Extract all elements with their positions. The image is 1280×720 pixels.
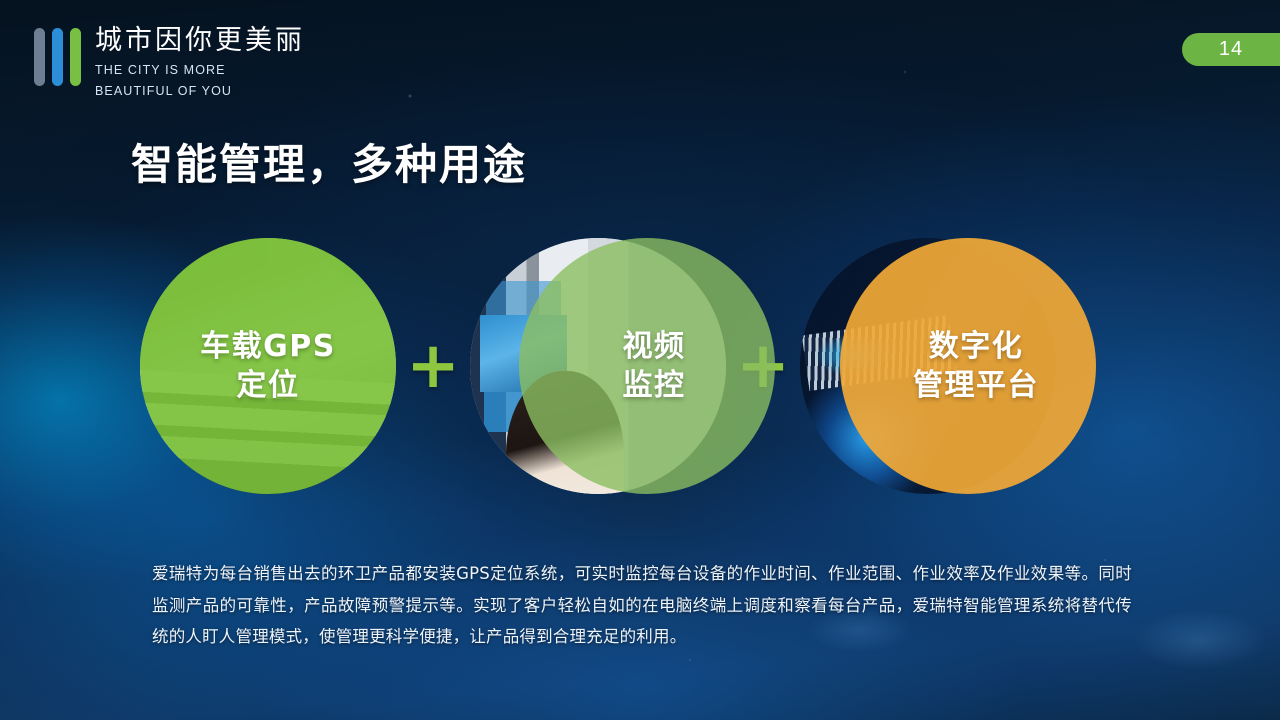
logo-english-line-1: THE CITY IS MORE [95,61,305,79]
concept-circle-gps: 车载GPS 定位 [140,238,396,494]
body-paragraph: 爱瑞特为每台销售出去的环卫产品都安装GPS定位系统，可实时监控每台设备的作业时间… [152,558,1132,653]
logo-english-line-2: BEAUTIFUL OF YOU [95,82,305,100]
concept-circle-platform: 数字化 管理平台 [800,238,1056,494]
concept-circle-platform-label-line-2: 管理平台 [913,366,1039,405]
concept-circle-video-label: 视频 监控 [526,238,782,494]
page-number-label: 14 [1219,38,1243,61]
slide-canvas: 城市因你更美丽 THE CITY IS MORE BEAUTIFUL OF YO… [0,0,1280,720]
plus-separator-1-icon: + [396,334,470,398]
logo-bar-gray-icon [34,28,45,86]
page-number-badge: 14 [1182,33,1280,66]
concept-circle-gps-label-line-2: 定位 [237,366,300,405]
plus-glyph-1: + [406,334,460,398]
concept-circles-row: 车载GPS 定位 + 视频 监控 + [140,238,1150,494]
logo-bar-blue-icon [52,28,63,86]
concept-circle-video-label-line-1: 视频 [623,327,686,366]
brand-logo: 城市因你更美丽 THE CITY IS MORE BEAUTIFUL OF YO… [34,24,305,100]
concept-circle-video: 视频 监控 [470,238,726,494]
concept-circle-video-label-line-2: 监控 [623,366,686,405]
logo-text-group: 城市因你更美丽 THE CITY IS MORE BEAUTIFUL OF YO… [95,24,305,100]
concept-circle-gps-label: 车载GPS 定位 [140,238,396,494]
concept-circle-gps-label-line-1: 车载GPS [200,327,336,366]
slide-title: 智能管理，多种用途 [131,141,527,189]
logo-bar-green-icon [70,28,81,86]
logo-bars-icon [34,24,81,86]
concept-circle-platform-label: 数字化 管理平台 [848,238,1104,494]
logo-chinese-title: 城市因你更美丽 [95,25,305,58]
concept-circle-platform-label-line-1: 数字化 [929,327,1024,366]
